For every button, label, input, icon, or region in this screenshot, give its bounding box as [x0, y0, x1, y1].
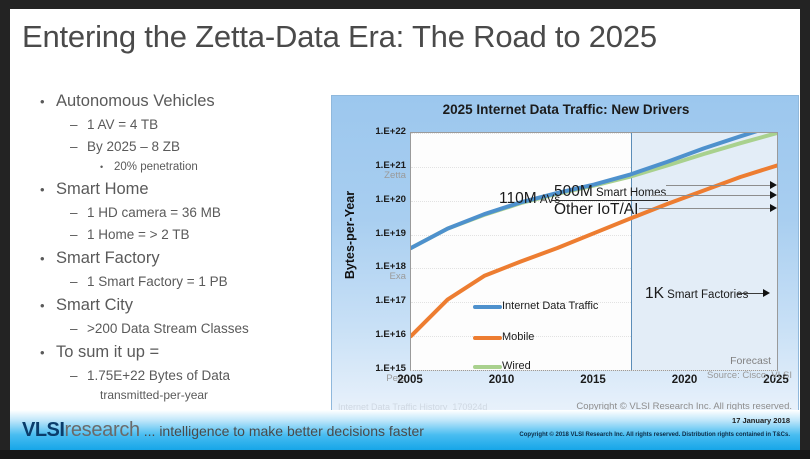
bullet-marker: •: [40, 89, 56, 114]
brand-logo: VLSIresearch ... intelligence to make be…: [22, 419, 424, 442]
footer-bar: VLSIresearch ... intelligence to make be…: [10, 410, 800, 450]
bullet-text: 1 Home = > 2 TB: [87, 224, 322, 246]
bullet-text: By 2025 – 8 ZB: [87, 136, 322, 158]
x-axis-tick: 2010: [489, 374, 515, 386]
x-axis-tick: 2020: [672, 374, 698, 386]
bullet-text: To sum it up =: [56, 340, 322, 365]
y-axis-tick: 1.E+19: [334, 228, 406, 239]
arrowhead-blue: [770, 191, 777, 199]
annotation-smart-homes: 500M Smart Homes: [554, 183, 666, 201]
x-axis-tick: 2015: [580, 374, 606, 386]
bullet-item: –By 2025 – 8 ZB: [70, 136, 322, 158]
frame-bottom-strip: [0, 450, 810, 459]
y-axis-unit: Exa: [334, 271, 406, 282]
bullet-item: •Smart Home: [40, 177, 322, 202]
bullet-text: 20% penetration: [114, 158, 322, 177]
bullet-text: Smart Factory: [56, 246, 322, 271]
slide-frame: Entering the Zetta-Data Era: The Road to…: [0, 0, 810, 459]
y-axis-unit: Zetta: [334, 170, 406, 181]
y-axis-tick: 1.E+16: [334, 329, 406, 340]
brand-regular: research: [64, 419, 139, 441]
brand-tagline: ... intelligence to make better decision…: [140, 423, 424, 439]
bullet-marker: •: [100, 158, 114, 177]
y-axis-tick: 1.E+20: [334, 194, 406, 205]
brand-bold: VLSI: [22, 419, 64, 441]
bullet-text: 1 Smart Factory = 1 PB: [87, 271, 322, 293]
bullet-text: 1 AV = 4 TB: [87, 114, 322, 136]
bullet-marker: •: [40, 340, 56, 365]
legend-swatch: [473, 336, 502, 340]
bullet-marker: –: [70, 318, 87, 340]
bullet-item: –1.75E+22 Bytes of Data: [70, 365, 322, 387]
bullet-continuation: transmitted-per-year: [100, 387, 322, 403]
bullet-item: –1 HD camera = 36 MB: [70, 202, 322, 224]
chart-panel: 2025 Internet Data Traffic: New Drivers …: [331, 95, 799, 417]
bullet-text: 1.75E+22 Bytes of Data: [87, 365, 322, 387]
bullet-text: Smart Home: [56, 177, 322, 202]
bullet-item: •Smart Factory: [40, 246, 322, 271]
bullet-text: >200 Data Stream Classes: [87, 318, 322, 340]
bullet-text: 1 HD camera = 36 MB: [87, 202, 322, 224]
legend-swatch: [473, 365, 502, 369]
arrowhead-factories: [763, 289, 770, 297]
x-axis-tick: 2005: [397, 374, 423, 386]
series-lines: [411, 133, 777, 370]
bullet-item: •To sum it up =: [40, 340, 322, 365]
y-axis: Bytes-per-Year 1.E+221.E+21Zetta1.E+201.…: [332, 96, 406, 418]
bullet-marker: •: [40, 246, 56, 271]
bullet-marker: •: [40, 177, 56, 202]
bullet-text: Smart City: [56, 293, 322, 318]
bullet-marker: –: [70, 365, 87, 387]
y-axis-tick: 1.E+22: [334, 126, 406, 137]
chart-source: Source: Cisco, VLSI: [707, 370, 792, 381]
legend-swatch: [473, 305, 502, 309]
bullet-item: –1 AV = 4 TB: [70, 114, 322, 136]
leader-line-iot: [639, 208, 771, 209]
page-title: Entering the Zetta-Data Era: The Road to…: [22, 19, 792, 55]
bullet-item: •Autonomous Vehicles: [40, 89, 322, 114]
legend-label: Mobile: [502, 331, 534, 343]
leader-line-factories: [738, 293, 764, 294]
bullet-list: •Autonomous Vehicles–1 AV = 4 TB–By 2025…: [32, 89, 322, 403]
arrowhead-homes: [770, 181, 777, 189]
bullet-marker: –: [70, 202, 87, 224]
legend-label: Internet Data Traffic: [502, 300, 598, 312]
bullet-marker: •: [40, 293, 56, 318]
legend-label: Wired: [502, 360, 531, 372]
footer-date: 17 January 2018: [732, 416, 790, 425]
slide-page: Entering the Zetta-Data Era: The Road to…: [10, 9, 800, 450]
bullet-text: Autonomous Vehicles: [56, 89, 322, 114]
annotation-smart-factories: 1K Smart Factories: [645, 285, 748, 303]
leader-line-homes: [666, 185, 771, 186]
bullet-item: –>200 Data Stream Classes: [70, 318, 322, 340]
arrowhead-iot: [770, 204, 777, 212]
bullet-marker: –: [70, 114, 87, 136]
bullet-marker: –: [70, 271, 87, 293]
plot-area: Forecast 110M AVs 500M Smart Homes Other…: [410, 132, 778, 371]
y-axis-tick: 1.E+17: [334, 295, 406, 306]
bullet-marker: –: [70, 224, 87, 246]
bullet-item: •20% penetration: [100, 158, 322, 177]
bullet-item: –1 Home = > 2 TB: [70, 224, 322, 246]
annotation-other-iot: Other IoT/AI: [554, 201, 638, 219]
leader-line-blue: [651, 195, 771, 196]
bullet-item: –1 Smart Factory = 1 PB: [70, 271, 322, 293]
footer-copyright: Copyright © 2018 VLSI Research Inc. All …: [519, 432, 790, 438]
annotation-avs: 110M AVs: [499, 190, 560, 208]
y-axis-unit: Peta: [334, 373, 406, 384]
bullet-marker: –: [70, 136, 87, 158]
bullet-item: •Smart City: [40, 293, 322, 318]
